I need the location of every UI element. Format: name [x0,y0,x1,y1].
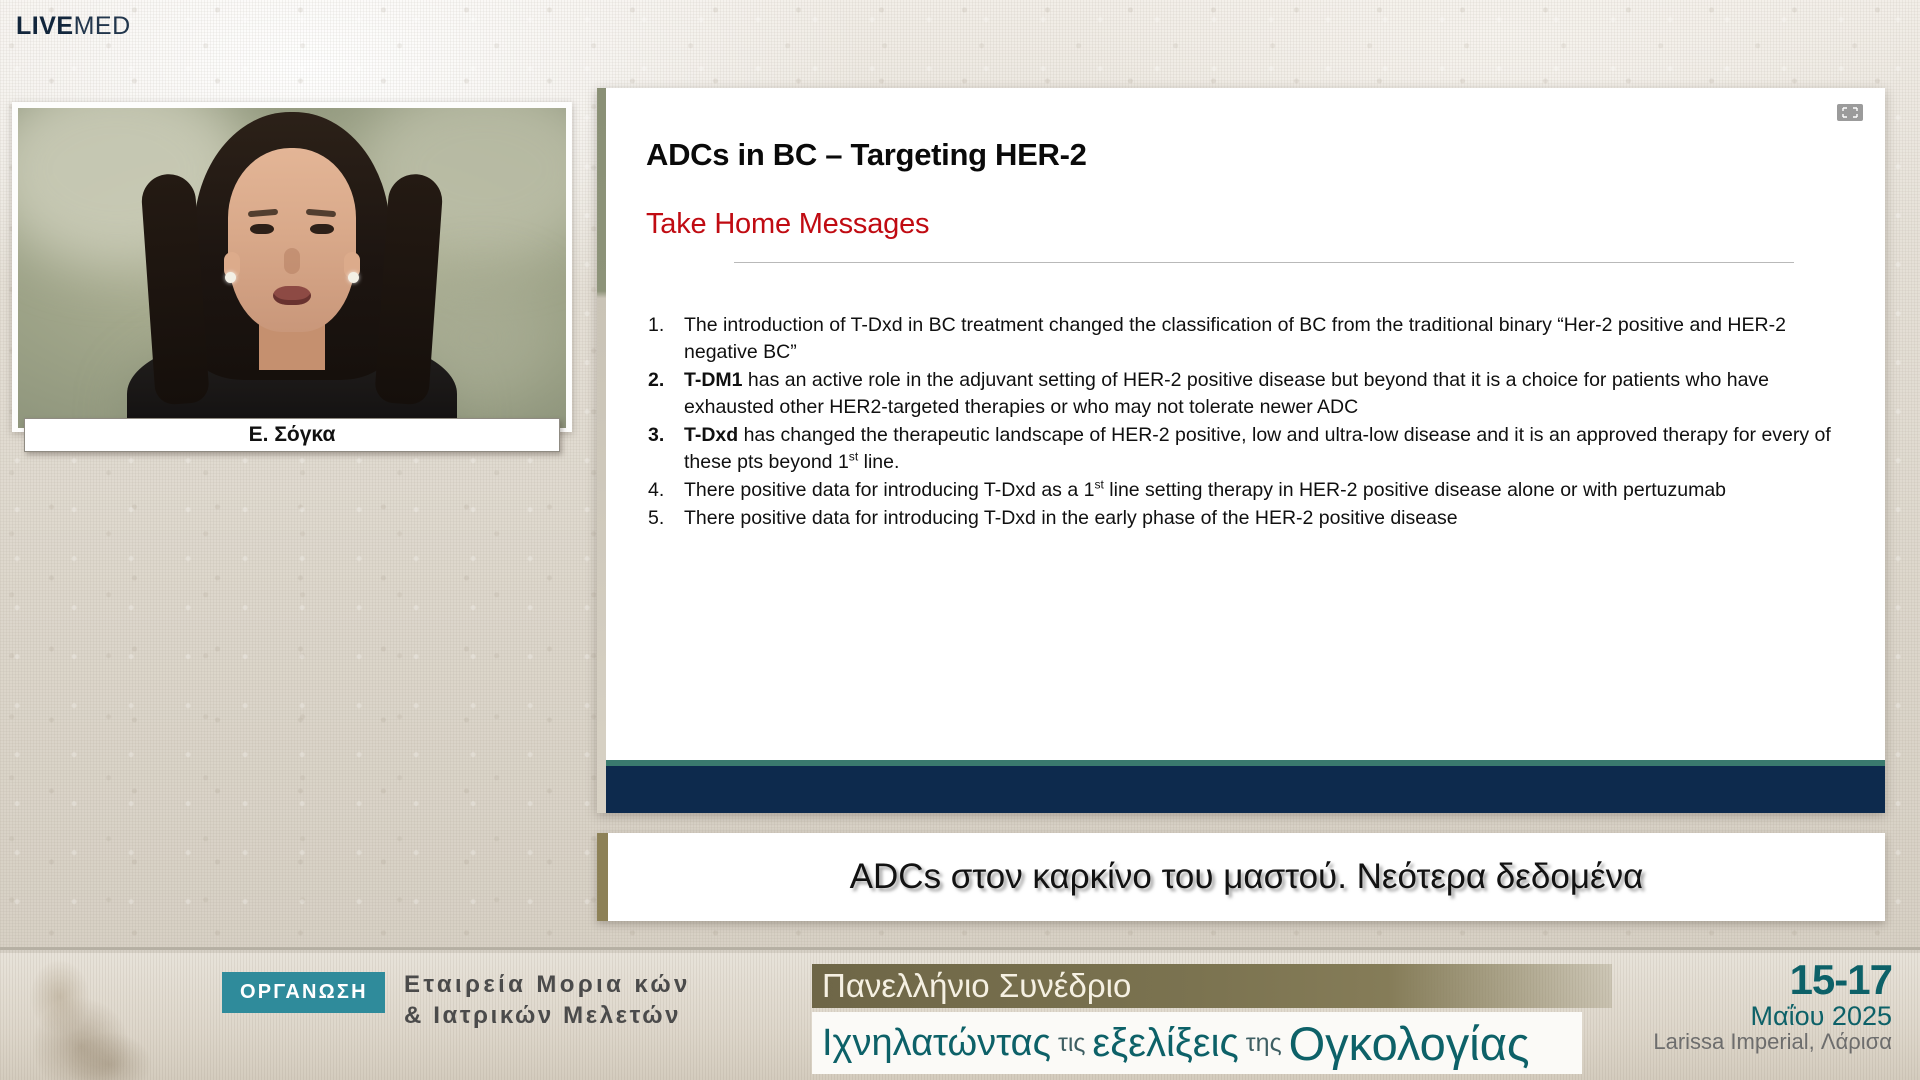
speaker-nameplate: Ε. Σόγκα [24,418,560,452]
congress-subtitle-word-2: τις [1051,1029,1092,1058]
congress-date-range: 15-17 [1653,958,1892,1002]
slide-title: ADCs in BC – Targeting HER-2 [646,137,1087,173]
list-item: 2.T-DM1 has an active role in the adjuva… [646,367,1839,421]
list-item: 5.There positive data for introducing T-… [646,505,1839,532]
list-item-text: There positive data for introducing T-Dx… [684,507,1458,529]
congress-venue: Larissa Imperial, Λάρισα [1653,1030,1892,1053]
list-item-text: The introduction of T-Dxd in BC treatmen… [684,314,1786,363]
fullscreen-icon[interactable] [1837,104,1863,121]
statue-decoration [0,950,176,1080]
slide-divider [734,262,1794,263]
organizer-name-line1: Εταιρεία Μορια κών [404,970,691,1001]
logo-live: LIVE [16,12,74,40]
congress-subtitle-word-3: εξελίξεις [1092,1021,1238,1066]
speaker-face [228,148,356,332]
list-item-text: has an active role in the adjuvant setti… [684,369,1769,418]
speaker-mouth [273,286,311,305]
list-item: 1.The introduction of T-Dxd in BC treatm… [646,312,1839,366]
speaker-brow-right [306,209,336,218]
list-item-number: 5. [648,505,676,532]
session-caption-bar: ADCs στον καρκίνο του μαστού. Νεότερα δε… [597,833,1885,921]
congress-subtitle-word-5: Ογκολογίας [1289,1016,1530,1071]
list-item-number: 4. [648,477,676,504]
speaker-eye-right [310,224,334,234]
congress-subtitle-band: Ιχνηλατώντας τις εξελίξεις της Ογκολογία… [812,1012,1582,1074]
speaker-name: Ε. Σόγκα [249,423,336,447]
livemed-logo: LIVEMED [16,14,131,39]
take-home-messages-list: 1.The introduction of T-Dxd in BC treatm… [646,312,1839,533]
list-item-number: 1. [648,312,676,339]
congress-title-band: Πανελλήνιο Συνέδριο [812,964,1612,1008]
congress-subtitle-word-4: της [1239,1029,1289,1058]
organizer-name: Εταιρεία Μορια κών & Ιατρικών Μελετών [404,970,691,1031]
speaker-earring-left [225,272,236,283]
speaker-nose [284,248,300,274]
congress-subtitle-word-1: Ιχνηλατώντας [812,1022,1051,1065]
speaker-video-panel[interactable] [12,102,572,432]
list-item-bold-lead: T-DM1 [684,369,743,391]
list-item: 4.There positive data for introducing T-… [646,477,1839,504]
logo-med: MED [74,12,131,40]
slide-content: ADCs in BC – Targeting HER-2 Take Home M… [606,88,1885,813]
list-item-bold-lead: T-Dxd [684,424,738,446]
presentation-slide[interactable]: ADCs in BC – Targeting HER-2 Take Home M… [597,88,1885,813]
speaker-brow-left [248,209,278,218]
session-caption-text: ADCs στον καρκίνο του μαστού. Νεότερα δε… [850,857,1644,897]
speaker-figure [142,108,442,428]
speaker-video-feed[interactable] [18,108,566,428]
congress-date-month: Μαΐου 2025 [1653,1002,1892,1030]
congress-footer: ΟΡΓΑΝΩΣΗ Εταιρεία Μορια κών & Ιατρικών Μ… [0,947,1920,1080]
speaker-earring-right [348,272,359,283]
congress-title: Πανελλήνιο Συνέδριο [812,967,1131,1005]
organizer-badge: ΟΡΓΑΝΩΣΗ [222,972,385,1013]
list-item-number: 2. [648,367,676,394]
slide-subtitle: Take Home Messages [646,208,929,241]
list-item-text: has changed the therapeutic landscape of… [684,424,1831,473]
congress-dates: 15-17 Μαΐου 2025 Larissa Imperial, Λάρισ… [1653,958,1892,1054]
list-item: 3.T-Dxd has changed the therapeutic land… [646,422,1839,476]
slide-footer-band [606,766,1885,813]
speaker-eye-left [250,224,274,234]
list-item-text: There positive data for introducing T-Dx… [684,479,1726,501]
list-item-number: 3. [648,422,676,449]
slide-left-accent-strip [597,88,606,813]
organizer-name-line2: & Ιατρικών Μελετών [404,1001,691,1032]
